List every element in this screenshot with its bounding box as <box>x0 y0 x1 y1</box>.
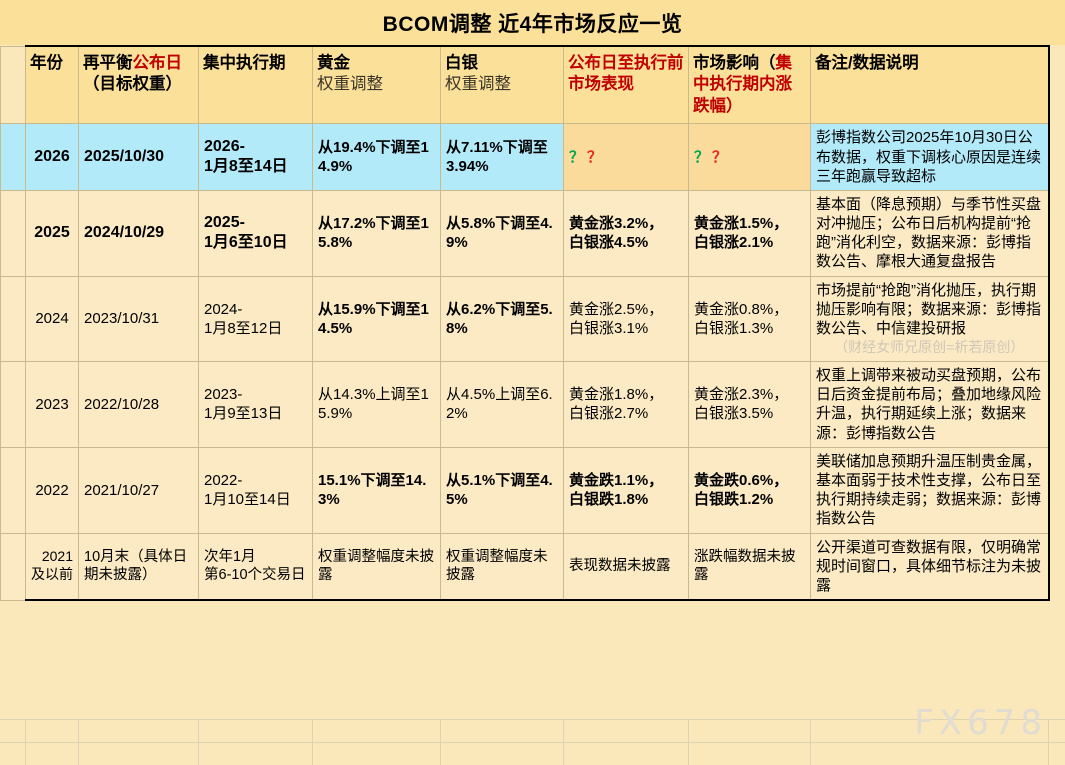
cell-year: 2024 <box>26 276 79 361</box>
question-mark-red: ？ <box>587 149 605 166</box>
cell-silver-weight: 从4.5%上调至6.2% <box>441 362 564 448</box>
table-row: 2023 2022/10/28 2023- 1月9至13日 从14.3%上调至1… <box>1 362 1049 448</box>
cell-gold-weight: 从15.9%下调至14.5% <box>313 276 441 361</box>
cell-year: 2026 <box>26 124 79 191</box>
cell-announce-date: 2023/10/31 <box>79 276 199 361</box>
gutter-cell <box>1 276 26 361</box>
cell-notes: 权重上调带来被动买盘预期，公布日后资金提前布局；叠加地缘风险升温，执行期延续上涨… <box>811 362 1049 448</box>
cell-silver-weight: 从5.1%下调至4.5% <box>441 447 564 533</box>
cell-announce-date: 2021/10/27 <box>79 447 199 533</box>
cell-year: 2023 <box>26 362 79 448</box>
cell-gold-weight: 从17.2%下调至15.8% <box>313 190 441 276</box>
cell-execution-window: 2026- 1月8至14日 <box>199 124 313 191</box>
cell-execution-window: 次年1月 第6-10个交易日 <box>199 533 313 600</box>
cell-market-impact: 涨跌幅数据未披露 <box>689 533 811 600</box>
col-header-notes: 备注/数据说明 <box>811 46 1049 124</box>
cell-notes: 公开渠道可查数据有限，仅明确常规时间窗口，具体细节标注为未披露 <box>811 533 1049 600</box>
cell-silver-weight: 从6.2%下调至5.8% <box>441 276 564 361</box>
cell-notes: 基本面（降息预期）与季节性买盘对冲抛压；公布日后机构提前“抢跑”消化利空，数据来… <box>811 190 1049 276</box>
gutter-cell <box>1 46 26 124</box>
gutter-cell <box>1 362 26 448</box>
cell-execution-window: 2022- 1月10至14日 <box>199 447 313 533</box>
col-header-pre-execution-performance: 公布日至执行前市场表现 <box>564 46 689 124</box>
table-header-row: 年份 再平衡公布日（目标权重） 集中执行期 黄金 权重调整 白银 权重调整 公布… <box>1 46 1049 124</box>
cell-execution-window: 2024- 1月8至12日 <box>199 276 313 361</box>
cell-announce-date: 2025/10/30 <box>79 124 199 191</box>
gutter-cell <box>1 124 26 191</box>
cell-notes: 市场提前“抢跑”消化抛压，执行期抛压影响有限；数据来源：彭博指数公告、中信建投研… <box>811 276 1049 361</box>
cell-pre-performance: 黄金涨2.5%， 白银涨3.1% <box>564 276 689 361</box>
col-header-execution-window: 集中执行期 <box>199 46 313 124</box>
gutter-cell <box>1 190 26 276</box>
table-row: 2026 2025/10/30 2026- 1月8至14日 从19.4%下调至1… <box>1 124 1049 191</box>
cell-announce-date: 10月末（具体日期未披露） <box>79 533 199 600</box>
question-mark-red: ？ <box>712 149 730 166</box>
cell-pre-performance: 黄金跌1.1%， 白银跌1.8% <box>564 447 689 533</box>
title-banner: BCOM调整 近4年市场反应一览 <box>0 0 1065 45</box>
question-mark-green: ？ <box>569 149 587 166</box>
cell-gold-weight: 从14.3%上调至15.9% <box>313 362 441 448</box>
gutter-cell <box>1 447 26 533</box>
col-header-announce-date: 再平衡公布日（目标权重） <box>79 46 199 124</box>
cell-pre-performance: 黄金涨1.8%， 白银涨2.7% <box>564 362 689 448</box>
cell-execution-window: 2023- 1月9至13日 <box>199 362 313 448</box>
cell-year: 2022 <box>26 447 79 533</box>
cell-announce-date: 2024/10/29 <box>79 190 199 276</box>
cell-gold-weight: 权重调整幅度未披露 <box>313 533 441 600</box>
cell-notes: 美联储加息预期升温压制贵金属，基本面弱于技术性支撑，公布日至执行期持续走弱；数据… <box>811 447 1049 533</box>
cell-pre-performance: 表现数据未披露 <box>564 533 689 600</box>
col-header-market-impact: 市场影响（集中执行期内涨跌幅） <box>689 46 811 124</box>
table-row: 2021及以前 10月末（具体日期未披露） 次年1月 第6-10个交易日 权重调… <box>1 533 1049 600</box>
cell-silver-weight: 从5.8%下调至4.9% <box>441 190 564 276</box>
col-header-silver-weight: 白银 权重调整 <box>441 46 564 124</box>
cell-notes: 彭博指数公司2025年10月30日公布数据，权重下调核心原因是连续三年跑赢导致超… <box>811 124 1049 191</box>
table-row: 2022 2021/10/27 2022- 1月10至14日 15.1%下调至1… <box>1 447 1049 533</box>
market-reaction-table: 年份 再平衡公布日（目标权重） 集中执行期 黄金 权重调整 白银 权重调整 公布… <box>0 45 1050 601</box>
table-row: 2024 2023/10/31 2024- 1月8至12日 从15.9%下调至1… <box>1 276 1049 361</box>
cell-market-impact: ？？ <box>689 124 811 191</box>
inline-watermark: （财经女师兄原创=析若原创） <box>816 339 1043 357</box>
spreadsheet-area: 年份 再平衡公布日（目标权重） 集中执行期 黄金 权重调整 白银 权重调整 公布… <box>0 45 1065 765</box>
cell-silver-weight: 权重调整幅度未披露 <box>441 533 564 600</box>
cell-market-impact: 黄金涨1.5%， 白银涨2.1% <box>689 190 811 276</box>
cell-gold-weight: 15.1%下调至14.3% <box>313 447 441 533</box>
gutter-cell <box>1 533 26 600</box>
cell-year: 2025 <box>26 190 79 276</box>
question-mark-green: ？ <box>694 149 712 166</box>
cell-silver-weight: 从7.11%下调至3.94% <box>441 124 564 191</box>
cell-execution-window: 2025- 1月6至10日 <box>199 190 313 276</box>
cell-gold-weight: 从19.4%下调至14.9% <box>313 124 441 191</box>
page-title: BCOM调整 近4年市场反应一览 <box>383 8 683 38</box>
cell-announce-date: 2022/10/28 <box>79 362 199 448</box>
col-header-gold-weight: 黄金 权重调整 <box>313 46 441 124</box>
cell-year: 2021及以前 <box>26 533 79 600</box>
table-row: 2025 2024/10/29 2025- 1月6至10日 从17.2%下调至1… <box>1 190 1049 276</box>
col-header-year: 年份 <box>26 46 79 124</box>
empty-grid-rows <box>0 719 1065 765</box>
cell-pre-performance: ？？ <box>564 124 689 191</box>
cell-market-impact: 黄金涨0.8%， 白银涨1.3% <box>689 276 811 361</box>
cell-market-impact: 黄金跌0.6%， 白银跌1.2% <box>689 447 811 533</box>
cell-pre-performance: 黄金涨3.2%， 白银涨4.5% <box>564 190 689 276</box>
cell-market-impact: 黄金涨2.3%， 白银涨3.5% <box>689 362 811 448</box>
